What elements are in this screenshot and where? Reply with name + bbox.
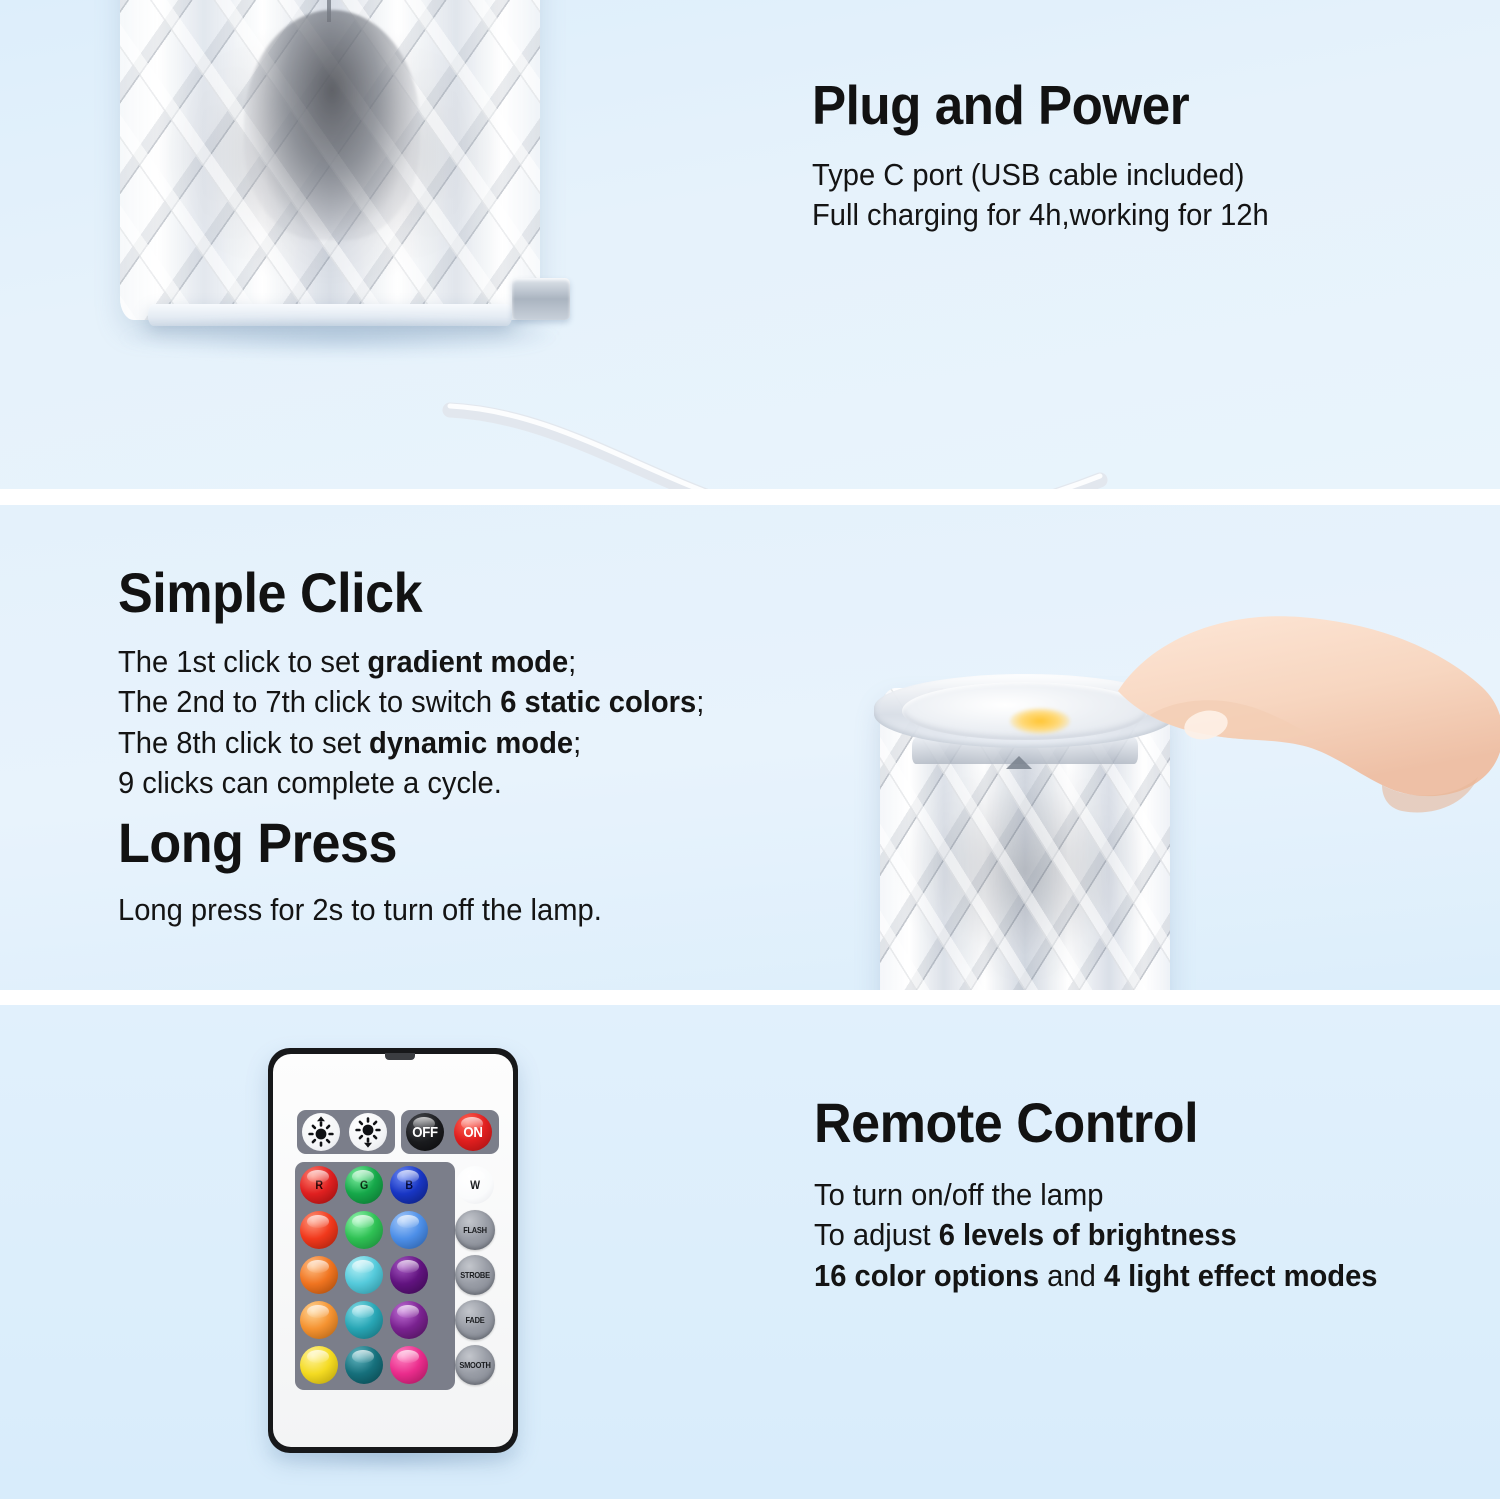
color-button-teal[interactable] — [345, 1301, 383, 1339]
color-button-label: G — [347, 1166, 380, 1204]
brightness-up-button[interactable] — [302, 1113, 340, 1151]
section-divider — [0, 990, 1500, 1005]
body-line: Type C port (USB cable included) — [812, 155, 1269, 195]
strobe-button-label: STROBE — [457, 1255, 492, 1295]
lamp-indicator-triangle — [1006, 756, 1032, 769]
hand-pointing-icon — [1110, 605, 1500, 905]
remote-face: OFF ON R G B W — [273, 1054, 513, 1447]
color-button-orange[interactable] — [300, 1256, 338, 1294]
heading-simple-click: Simple Click — [118, 565, 698, 621]
color-button-magenta[interactable] — [390, 1346, 428, 1384]
remote-control-body: To turn on/off the lamp To adjust 6 leve… — [814, 1175, 1413, 1296]
simple-click-text-block: Simple Click The 1st click to set gradie… — [118, 565, 742, 803]
lamp-inner-bulb — [244, 10, 420, 240]
color-button-light-blue[interactable] — [390, 1211, 428, 1249]
heading-plug-and-power: Plug and Power — [812, 78, 1264, 133]
body-line: The 1st click to set gradient mode; — [118, 642, 704, 682]
heading-remote-control: Remote Control — [814, 1095, 1372, 1151]
heading-long-press: Long Press — [118, 815, 597, 871]
body-line: To adjust 6 levels of brightness — [814, 1215, 1378, 1255]
section-remote-control: OFF ON R G B W — [0, 1005, 1500, 1499]
flash-button-label: FLASH — [457, 1210, 492, 1250]
color-button-white[interactable]: W — [456, 1166, 494, 1204]
sun-up-icon — [302, 1113, 340, 1151]
color-button-label: B — [392, 1166, 425, 1204]
on-button-label: ON — [456, 1113, 489, 1151]
remote-control-device[interactable]: OFF ON R G B W — [268, 1048, 518, 1453]
long-press-text-block: Long Press Long press for 2s to turn off… — [118, 815, 633, 930]
long-press-body: Long press for 2s to turn off the lamp. — [118, 890, 633, 930]
fade-button-label: FADE — [457, 1300, 492, 1340]
color-button-blue[interactable]: B — [390, 1166, 428, 1204]
body-line: 16 color options and 4 light effect mode… — [814, 1256, 1378, 1296]
fade-button[interactable]: FADE — [455, 1300, 495, 1340]
sun-down-icon — [349, 1113, 387, 1151]
usb-cable — [400, 255, 1140, 489]
color-button-red[interactable]: R — [300, 1166, 338, 1204]
smooth-button-label: SMOOTH — [457, 1345, 492, 1385]
color-button-label: R — [302, 1166, 335, 1204]
color-button-yellow[interactable] — [300, 1346, 338, 1384]
color-button-light-green[interactable] — [345, 1211, 383, 1249]
section-divider — [0, 489, 1500, 505]
body-line: The 8th click to set dynamic mode; — [118, 723, 704, 763]
flash-button[interactable]: FLASH — [455, 1210, 495, 1250]
color-button-dark-teal[interactable] — [345, 1346, 383, 1384]
body-line: Full charging for 4h,working for 12h — [812, 195, 1269, 235]
color-button-cyan[interactable] — [345, 1256, 383, 1294]
plug-and-power-text-block: Plug and Power Type C port (USB cable in… — [812, 78, 1298, 236]
on-button[interactable]: ON — [454, 1113, 492, 1151]
color-button-label: W — [458, 1166, 491, 1204]
simple-click-body: The 1st click to set gradient mode; The … — [118, 642, 742, 803]
strobe-button[interactable]: STROBE — [455, 1255, 495, 1295]
smooth-button[interactable]: SMOOTH — [455, 1345, 495, 1385]
color-button-purple[interactable] — [390, 1301, 428, 1339]
section-plug-and-power: Plug and Power Type C port (USB cable in… — [0, 0, 1500, 489]
color-button-dark-purple[interactable] — [390, 1256, 428, 1294]
section-simple-click: Simple Click The 1st click to set gradie… — [0, 505, 1500, 990]
body-line: To turn on/off the lamp — [814, 1175, 1378, 1215]
color-button-amber[interactable] — [300, 1301, 338, 1339]
plug-and-power-body: Type C port (USB cable included) Full ch… — [812, 155, 1298, 236]
ir-emitter-icon — [385, 1053, 415, 1060]
color-button-green[interactable]: G — [345, 1166, 383, 1204]
off-button-label: OFF — [408, 1113, 441, 1151]
body-line: The 2nd to 7th click to switch 6 static … — [118, 682, 704, 722]
body-line: 9 clicks can complete a cycle. — [118, 763, 704, 803]
brightness-down-button[interactable] — [349, 1113, 387, 1151]
off-button[interactable]: OFF — [406, 1113, 444, 1151]
touch-glow-indicator — [1010, 708, 1070, 734]
body-line: Long press for 2s to turn off the lamp. — [118, 890, 602, 930]
color-button-orange-red[interactable] — [300, 1211, 338, 1249]
remote-control-text-block: Remote Control To turn on/off the lamp T… — [814, 1095, 1413, 1296]
